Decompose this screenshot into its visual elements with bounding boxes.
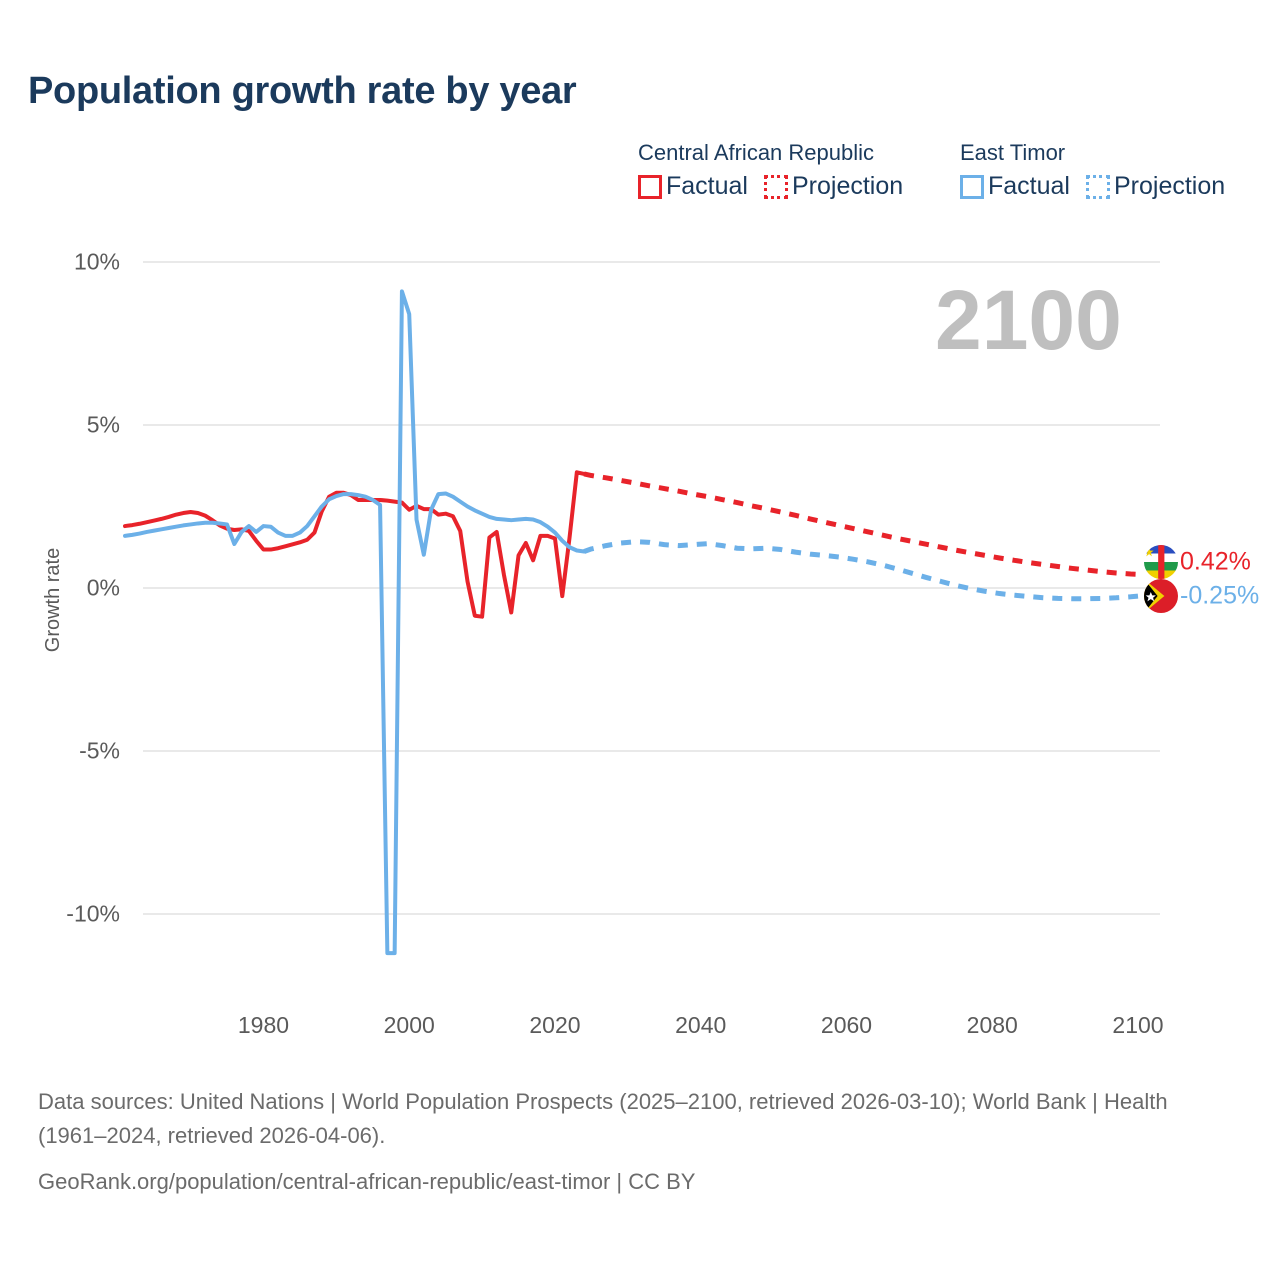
x-tick-label: 2000 — [384, 1012, 435, 1039]
central-african-republic-flag-icon — [1144, 545, 1178, 579]
x-tick-label: 2060 — [821, 1012, 872, 1039]
series-line-central-african-republic-projection — [584, 474, 1138, 574]
end-label-east-timor: -0.25% — [1180, 582, 1259, 611]
end-label-car: 0.42% — [1180, 548, 1251, 577]
data-sources-text: Data sources: United Nations | World Pop… — [38, 1085, 1238, 1153]
x-tick-label: 2020 — [529, 1012, 580, 1039]
chart-footer: Data sources: United Nations | World Pop… — [38, 1085, 1238, 1199]
source-url-text: GeoRank.org/population/central-african-r… — [38, 1165, 1238, 1199]
y-tick-label: 10% — [30, 249, 120, 276]
series-lines — [125, 291, 1138, 953]
x-tick-label: 2040 — [675, 1012, 726, 1039]
year-watermark: 2100 — [935, 272, 1122, 369]
y-tick-label: -10% — [30, 901, 120, 928]
y-tick-label: -5% — [30, 738, 120, 765]
x-tick-label: 1980 — [238, 1012, 289, 1039]
x-tick-label: 2080 — [967, 1012, 1018, 1039]
y-axis-label: Growth rate — [42, 548, 65, 652]
series-line-east-timor-factual — [125, 291, 584, 953]
x-tick-label: 2100 — [1112, 1012, 1163, 1039]
east-timor-flag-icon — [1144, 579, 1178, 613]
y-tick-label: 5% — [30, 412, 120, 439]
series-line-east-timor-projection — [584, 542, 1138, 599]
